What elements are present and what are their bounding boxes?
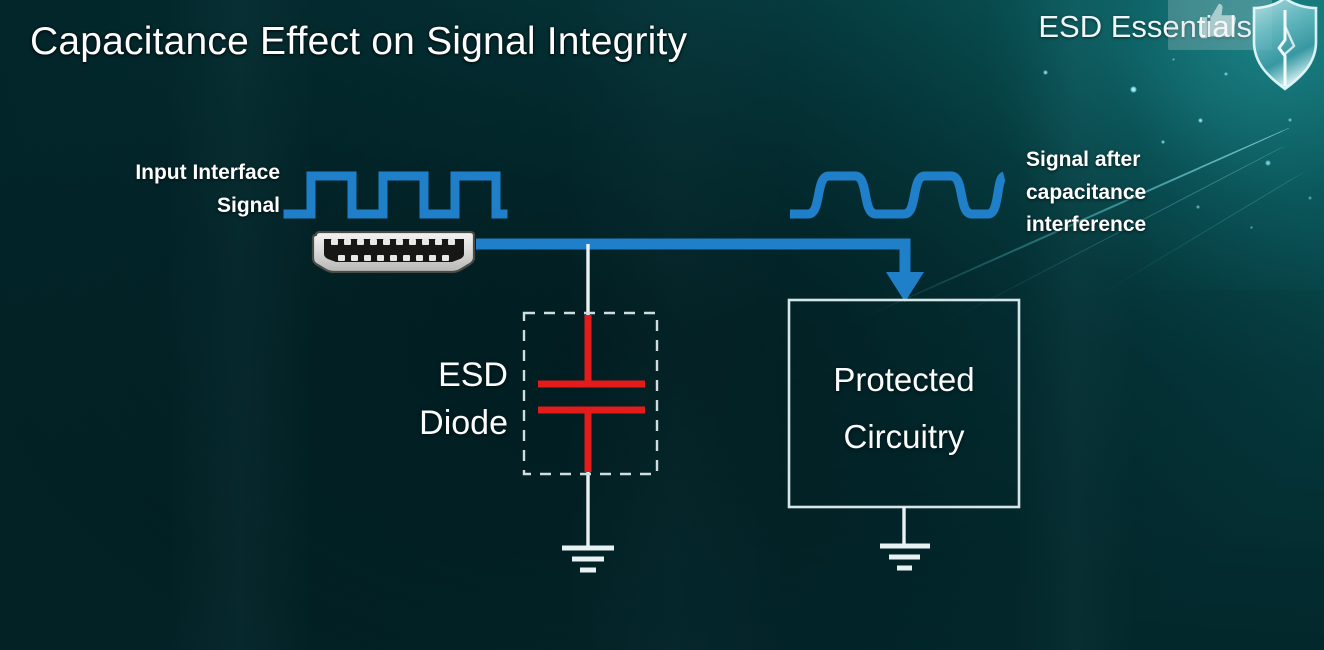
signal-trace-wire [476,244,905,276]
slide-canvas: Capacitance Effect on Signal Integrity E… [0,0,1324,650]
output-waveform [790,176,1004,214]
ground-symbol-icon [562,548,614,570]
circuit-schematic [0,0,1324,650]
input-waveform [288,176,503,214]
arrow-down-icon [886,272,924,302]
ground-symbol-icon [880,546,930,568]
hdmi-connector-icon [310,231,480,273]
protected-circuitry-box [789,300,1019,507]
